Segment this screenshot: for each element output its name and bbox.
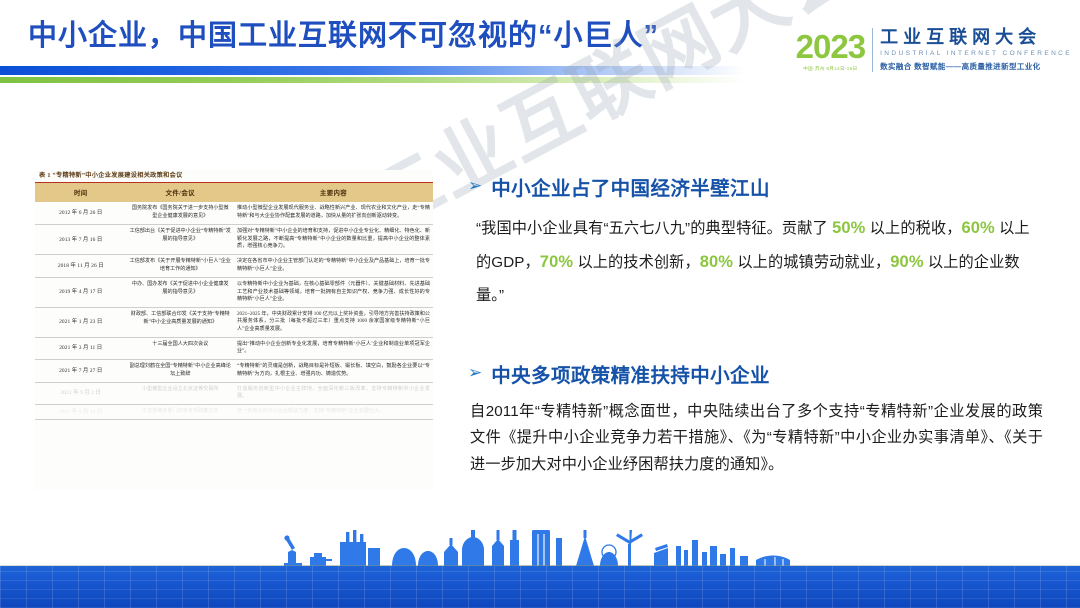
table-row: 2021 年 9 月 2 日小型微型企业设立北京证券交易所打造服务创新型中小企业… (35, 382, 433, 404)
table-caption: 表 1 “专精特新”中小企业发展建设相关政策和会议 (35, 170, 433, 182)
cell-date: 2019 年 4 月 17 日 (35, 277, 127, 307)
slide-footer (0, 530, 1080, 608)
table-row: 2019 年 4 月 17 日中办、国办发布《关于促进中小企业健康发展的指导意见… (35, 277, 433, 307)
cell-content: 打造服务创新型中小企业主阵地，全面深化新三板改革，支持专精特新中小企业发展。 (234, 382, 433, 404)
table-row: 2012 年 6 月 26 日国务院发布《国务院关于进一步支持小型微型企业健康发… (35, 202, 433, 224)
cell-content: 进一步加大对中小企业帮扶力度，支持“专精特新”企业发展壮大。 (234, 405, 433, 420)
cell-content: 决定在各省市中小企业主管部门认定的“专精特新”中小企业及产品基础上，培育一批专精… (234, 255, 433, 278)
cell-content: 2021~2025 年，中央财政累计安排 100 亿元以上奖补资金，引导地方完善… (234, 307, 433, 337)
cell-document: 国务院发布《国务院关于进一步支持小型微型企业健康发展的意见》 (127, 202, 234, 224)
cell-document: 工信部等多部门印发专项政策文件 (127, 405, 234, 420)
section-2-header: ➢ 中央多项政策精准扶持中小企业 (468, 359, 1043, 388)
cell-content: “专精特新”的灵魂是创新，战略目标是补短板、锻长板、填空白，鼓励各企业要以“专精… (234, 360, 433, 383)
logo-name-en: INDUSTRIAL INTERNET CONFERENCE (880, 50, 1072, 57)
table-row: 2021 年 9 月 14 日工信部等多部门印发专项政策文件进一步加大对中小企业… (35, 405, 433, 420)
column-header-doc: 文件/会议 (127, 183, 234, 202)
cell-document: 财政部、工信部联合印发《关于支持“专精特新”中小企业高质量发展的通知》 (127, 307, 234, 337)
cell-date: 2021 年 9 月 14 日 (35, 405, 127, 420)
logo-date-location: 中国·苏州 8月14日-16日 (803, 66, 857, 72)
logo-divider (872, 28, 873, 72)
logo-year-block: 2023 中国·苏州 8月14日-16日 (796, 28, 865, 72)
cell-document: 副总理刘鹤在全国“专精特新”中小企业高峰论坛上致辞 (127, 360, 234, 383)
column-header-content: 主要内容 (234, 183, 433, 202)
paragraph-text: 以上的税收， (865, 220, 961, 237)
cell-date: 2021 年 3 月 11 日 (35, 337, 127, 359)
paragraph-text: 以上的技术创新， (573, 254, 700, 271)
header-green-bar (0, 77, 745, 83)
cell-content: 推动小型微型企业发展现代服务业、战略性新兴产业、现代农业和文化产业，走“专精特新… (234, 202, 433, 224)
stat-percentage: 90% (890, 253, 923, 271)
table-row: 2021 年 3 月 11 日十三届全国人大四次会议提出“推动中小企业创新专业化… (35, 337, 433, 359)
city-skyline-icon (0, 530, 1080, 566)
policy-table-figure: 表 1 “专精特新”中小企业发展建设相关政策和会议 时间 文件/会议 主要内容 … (35, 170, 433, 490)
cell-document: 小型微型企业设立北京证券交易所 (127, 382, 234, 404)
cell-content: 提出“推动中小企业创新专业化发展，培育专精特新‘小巨人’企业和制造业单项冠军企业… (234, 337, 433, 359)
cell-document: 工信部发布《关于开展专精特新“小巨人”企业培育工作的通知》 (127, 255, 234, 278)
cell-date: 2013 年 7 月 16 日 (35, 225, 127, 255)
paragraph-text: 以上的城镇劳动就业， (733, 254, 890, 271)
cell-date: 2021 年 9 月 2 日 (35, 382, 127, 404)
section-2-title: 中央多项政策精准扶持中小企业 (491, 359, 770, 388)
page-title: 中小企业，中国工业互联网不可忽视的“小巨人” (28, 12, 659, 54)
logo-name-cn: 工业互联网大会 (880, 28, 1072, 47)
stat-percentage: 50% (832, 219, 865, 237)
table-row: 2013 年 7 月 16 日工信部出台《关于促进中小企业“专精特新”发展的指导… (35, 225, 433, 255)
table-body: 2012 年 6 月 26 日国务院发布《国务院关于进一步支持小型微型企业健康发… (35, 202, 433, 419)
cell-date: 2021 年 7 月 27 日 (35, 360, 127, 383)
table-row: 2021 年 1 月 23 日财政部、工信部联合印发《关于支持“专精特新”中小企… (35, 307, 433, 337)
slide-header: 中小企业，中国工业互联网不可忽视的“小巨人” 2023 中国·苏州 8月14日-… (0, 0, 1080, 100)
policy-table: 时间 文件/会议 主要内容 2012 年 6 月 26 日国务院发布《国务院关于… (35, 183, 433, 420)
arrow-bullet-icon: ➢ (468, 364, 482, 381)
right-content-panel: ➢ 中小企业占了中国经济半壁江山 “我国中小企业具有“五六七八九”的典型特征。贡… (468, 172, 1043, 478)
logo-text-block: 工业互联网大会 INDUSTRIAL INTERNET CONFERENCE 数… (880, 28, 1072, 72)
cell-content: 以专精特新中小企业为基础，在核心基础零部件（元器件）、关键基础材料、先进基础工艺… (234, 277, 433, 307)
cell-date: 2021 年 1 月 23 日 (35, 307, 127, 337)
logo-year: 2023 (796, 28, 865, 63)
column-header-time: 时间 (35, 183, 127, 202)
section-1-header: ➢ 中小企业占了中国经济半壁江山 (468, 172, 1043, 201)
cell-document: 中办、国办发布《关于促进中小企业健康发展的指导意见》 (127, 277, 234, 307)
table-header-row: 时间 文件/会议 主要内容 (35, 183, 433, 202)
cell-date: 2012 年 6 月 26 日 (35, 202, 127, 224)
arrow-bullet-icon: ➢ (468, 177, 482, 194)
table-row: 2021 年 7 月 27 日副总理刘鹤在全国“专精特新”中小企业高峰论坛上致辞… (35, 360, 433, 383)
paragraph-text: “我国中小企业具有“五六七八九”的典型特征。贡献了 (476, 220, 832, 237)
section-1-paragraph: “我国中小企业具有“五六七八九”的典型特征。贡献了 50% 以上的税收，60% … (468, 212, 1043, 311)
stat-percentage: 60% (962, 219, 995, 237)
table-row: 2018 年 11 月 26 日工信部发布《关于开展专精特新“小巨人”企业培育工… (35, 255, 433, 278)
section-1-title: 中小企业占了中国经济半壁江山 (491, 172, 770, 201)
logo-slogan: 数实融合 数智赋能——高质量推进新型工业化 (880, 61, 1072, 72)
perspective-grid-ground (0, 566, 1080, 608)
cell-document: 工信部出台《关于促进中小企业“专精特新”发展的指导意见》 (127, 225, 234, 255)
stat-percentage: 70% (540, 253, 573, 271)
stat-percentage: 80% (700, 253, 733, 271)
section-2-paragraph: 自2011年“专精特新”概念面世，中央陆续出台了多个支持“专精特新”企业发展的政… (468, 399, 1043, 477)
cell-content: 加强对“专精特新”中小企业的培育和支持，促进中小企业专业化、精细化、特色化、新颖… (234, 225, 433, 255)
conference-logo: 2023 中国·苏州 8月14日-16日 工业互联网大会 INDUSTRIAL … (796, 28, 1072, 72)
cell-date: 2018 年 11 月 26 日 (35, 255, 127, 278)
cell-document: 十三届全国人大四次会议 (127, 337, 234, 359)
